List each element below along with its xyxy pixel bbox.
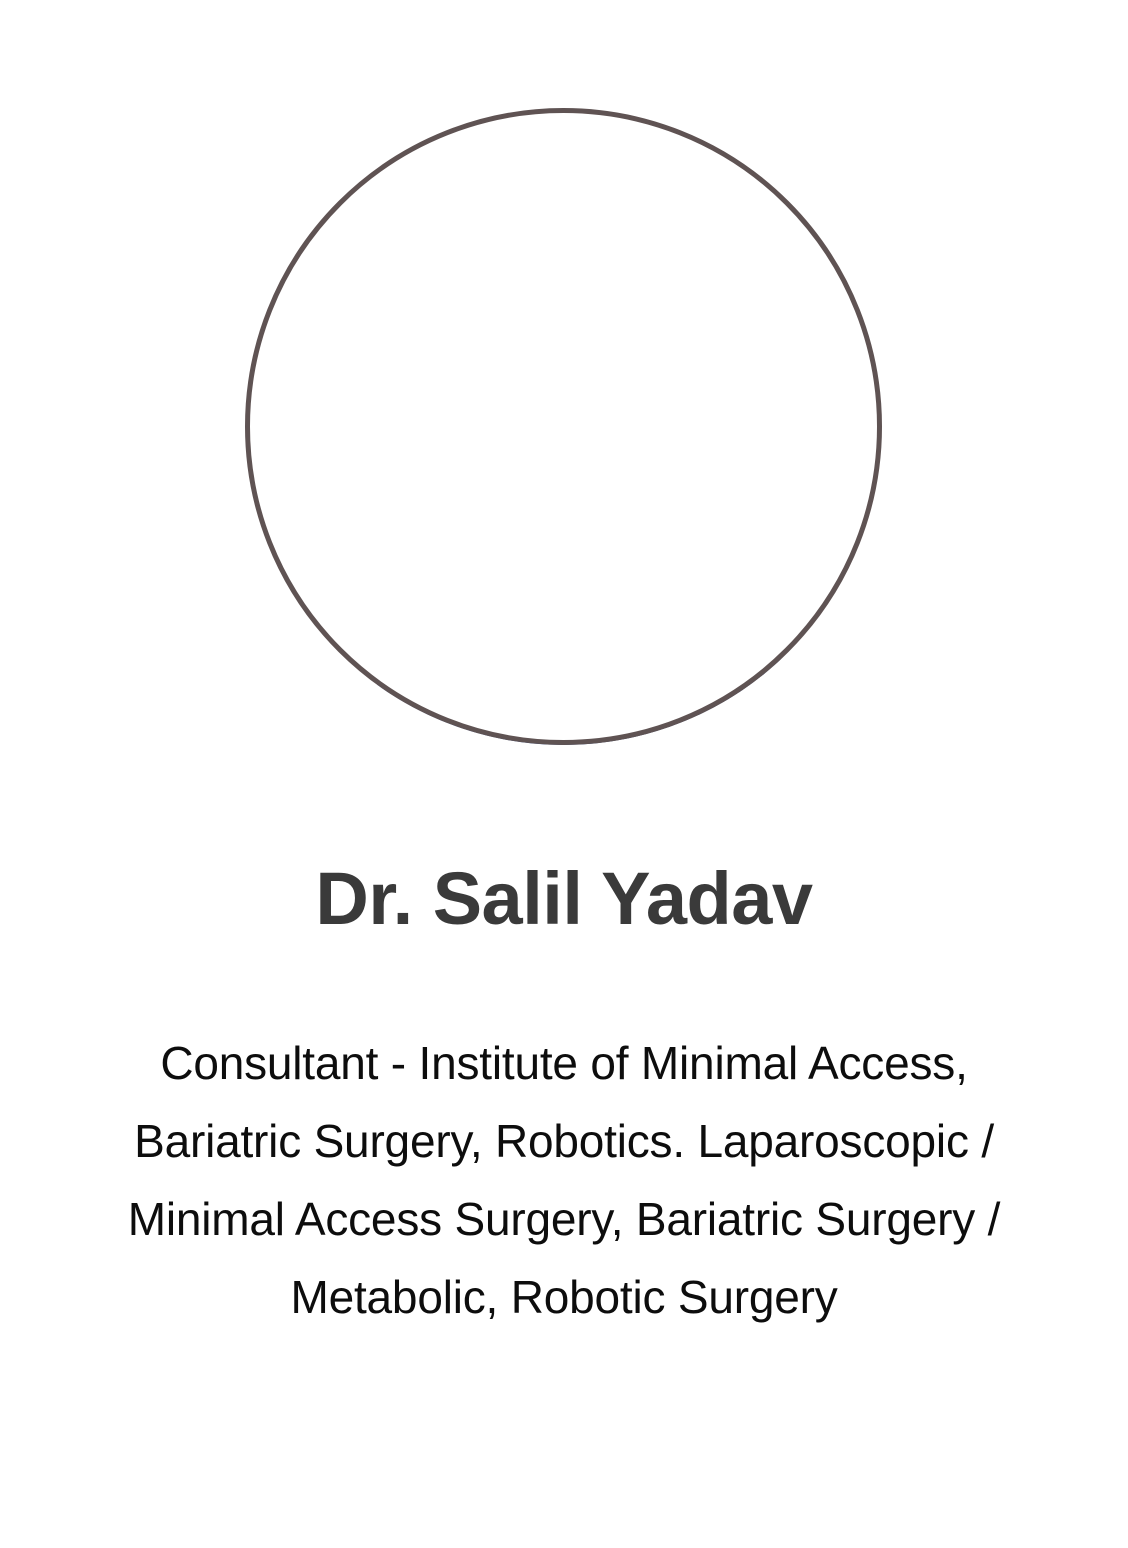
doctor-specialty-text: Consultant - Institute of Minimal Access… (86, 1024, 1042, 1336)
doctor-profile-card: DR. SALIL YADAV Dr. Salil Yadav Consulta… (0, 0, 1128, 1548)
avatar: DR. SALIL YADAV (245, 108, 882, 745)
pocket-pen (537, 538, 541, 586)
doctor-portrait-photo: DR. SALIL YADAV (245, 108, 882, 745)
scrubs-name-badge: DR. SALIL YADAV (545, 573, 690, 590)
scrubs-name-text: DR. SALIL YADAV (545, 573, 690, 590)
page-title: Dr. Salil Yadav (0, 862, 1128, 936)
avatar-photo-clip: DR. SALIL YADAV (245, 108, 882, 745)
